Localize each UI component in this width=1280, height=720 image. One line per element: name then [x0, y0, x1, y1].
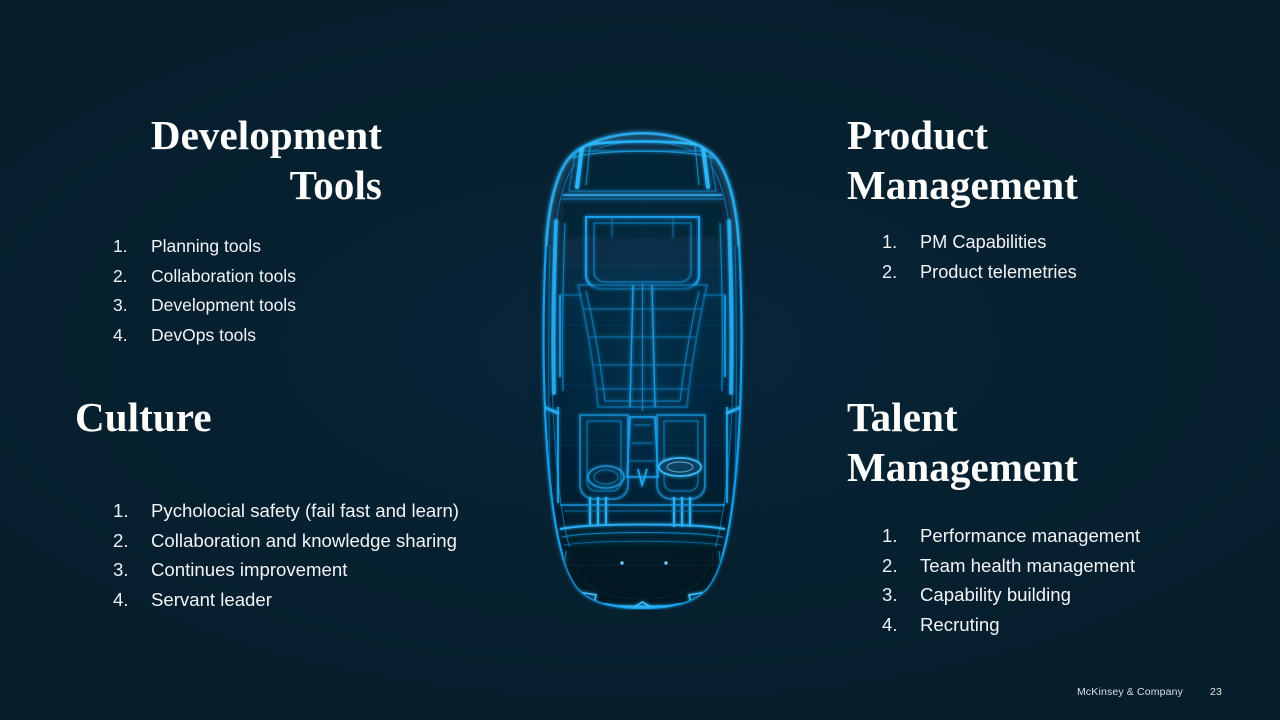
- list-item-label: Collaboration tools: [151, 266, 296, 286]
- section-heading-product-management: Product Management: [847, 110, 1078, 210]
- list-item-label: Team health management: [920, 555, 1135, 576]
- footer-page-number: 23: [1210, 686, 1222, 698]
- list-item-number: 3.: [113, 555, 139, 585]
- list-item-number: 2.: [882, 551, 908, 581]
- section-culture: Culture 1. Pycholocial safety (fail fast…: [75, 392, 459, 614]
- list-item-number: 2.: [882, 258, 908, 288]
- section-product-management: Product Management 1. PM Capabilities 2.…: [847, 110, 1078, 287]
- list-item: 1. Performance management: [882, 521, 1140, 551]
- section-heading-culture: Culture: [75, 392, 459, 442]
- list-item-number: 4.: [113, 585, 139, 615]
- list-item: 4. Servant leader: [113, 585, 459, 615]
- list-item-number: 1.: [113, 232, 139, 262]
- section-heading-development-tools: Development Tools: [75, 110, 382, 210]
- list-item-number: 1.: [113, 496, 139, 526]
- list-item: 2. Collaboration tools: [113, 262, 382, 292]
- list-item: 4. Recruting: [882, 610, 1140, 640]
- list-culture: 1. Pycholocial safety (fail fast and lea…: [113, 496, 459, 614]
- list-item: 3. Capability building: [882, 580, 1140, 610]
- car-xray-topdown-image: [520, 125, 765, 610]
- list-item-number: 1.: [882, 228, 908, 258]
- list-product-management: 1. PM Capabilities 2. Product telemetrie…: [882, 228, 1078, 287]
- list-talent-management: 1. Performance management 2. Team health…: [882, 521, 1140, 639]
- list-item: 3. Continues improvement: [113, 555, 459, 585]
- list-item-label: DevOps tools: [151, 325, 256, 345]
- list-item: 2. Product telemetries: [882, 258, 1078, 288]
- list-item-label: Recruting: [920, 614, 1000, 635]
- list-item-label: PM Capabilities: [920, 232, 1046, 252]
- list-item: 1. Pycholocial safety (fail fast and lea…: [113, 496, 459, 526]
- section-talent-management: Talent Management 1. Performance managem…: [847, 392, 1140, 639]
- list-item-number: 4.: [882, 610, 908, 640]
- list-item: 2. Team health management: [882, 551, 1140, 581]
- list-item-number: 2.: [113, 526, 139, 556]
- list-item-label: Development tools: [151, 295, 296, 315]
- list-item-label: Product telemetries: [920, 262, 1077, 282]
- list-item: 1. Planning tools: [113, 232, 382, 262]
- list-item-label: Capability building: [920, 584, 1071, 605]
- list-item-label: Performance management: [920, 525, 1140, 546]
- list-item-number: 4.: [113, 321, 139, 351]
- slide-canvas: Development Tools 1. Planning tools 2. C…: [0, 0, 1280, 720]
- list-item: 1. PM Capabilities: [882, 228, 1078, 258]
- list-item-label: Planning tools: [151, 236, 261, 256]
- list-development-tools: 1. Planning tools 2. Collaboration tools…: [113, 232, 382, 350]
- list-item-number: 1.: [882, 521, 908, 551]
- car-xray-svg: [520, 125, 765, 610]
- list-item-number: 2.: [113, 262, 139, 292]
- slide-footer: McKinsey & Company 23: [1077, 686, 1222, 698]
- list-item-number: 3.: [882, 580, 908, 610]
- list-item: 4. DevOps tools: [113, 321, 382, 351]
- section-heading-talent-management: Talent Management: [847, 392, 1140, 492]
- list-item-label: Continues improvement: [151, 559, 347, 580]
- list-item: 3. Development tools: [113, 291, 382, 321]
- list-item-number: 3.: [113, 291, 139, 321]
- list-item: 2. Collaboration and knowledge sharing: [113, 526, 459, 556]
- footer-brand: McKinsey & Company: [1077, 686, 1183, 698]
- section-development-tools: Development Tools 1. Planning tools 2. C…: [75, 110, 382, 350]
- list-item-label: Pycholocial safety (fail fast and learn): [151, 500, 459, 521]
- list-item-label: Servant leader: [151, 589, 272, 610]
- list-item-label: Collaboration and knowledge sharing: [151, 530, 457, 551]
